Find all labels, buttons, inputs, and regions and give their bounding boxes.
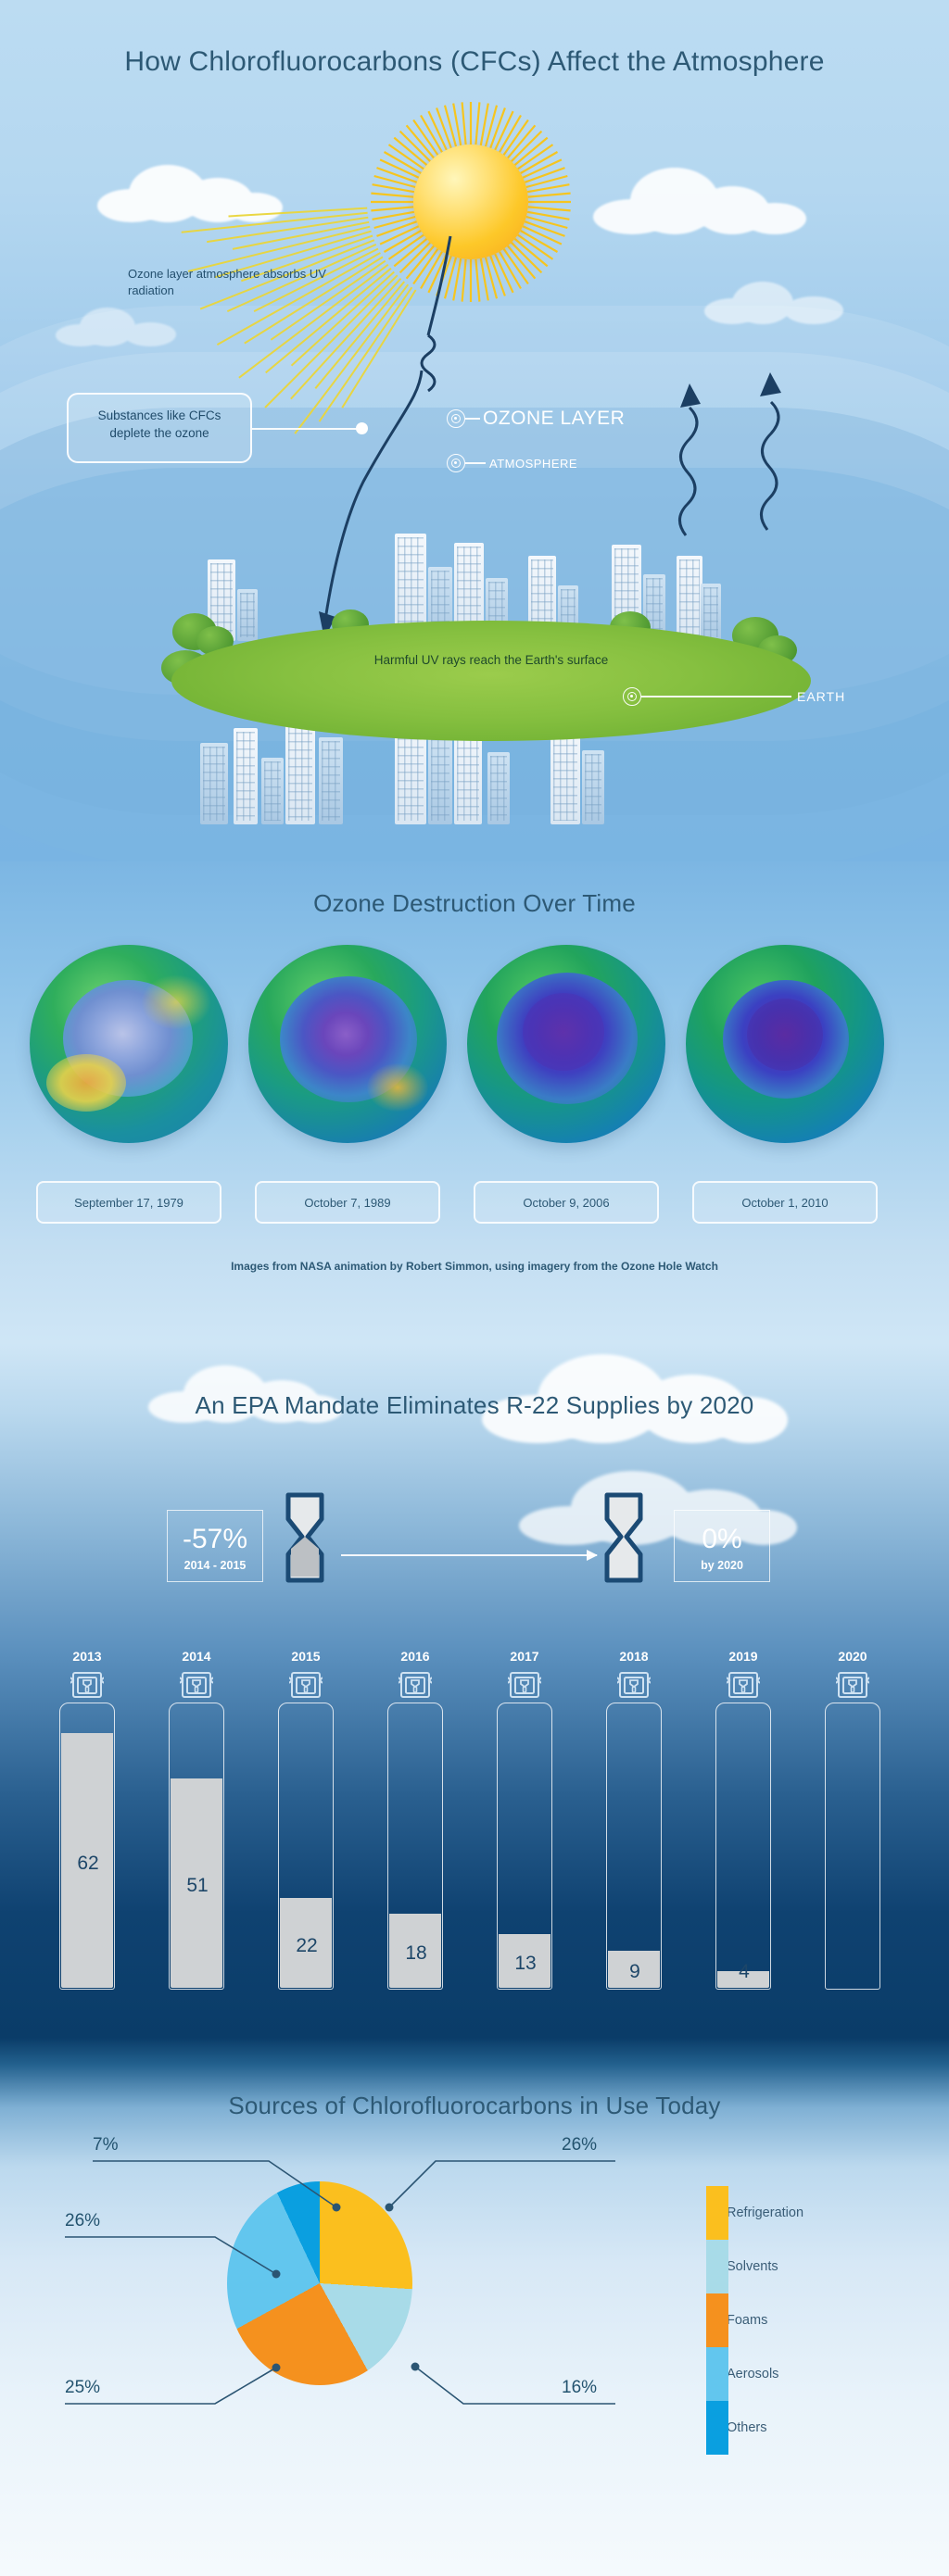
target-icon — [447, 409, 465, 428]
stat-target-period: by 2020 — [675, 1559, 769, 1572]
bar-year-label: 2013 — [48, 1649, 126, 1664]
ozone-globe-2006 — [467, 945, 665, 1143]
label-ozone-layer: OZONE LAYER — [447, 408, 625, 430]
epa-section-title: An EPA Mandate Eliminates R-22 Supplies … — [0, 1391, 949, 1420]
bar-year-label: 2018 — [595, 1649, 673, 1664]
legend-swatch — [706, 2186, 728, 2240]
bar-year-label: 2020 — [814, 1649, 892, 1664]
note-uv-reaches-surface: Harmful UV rays reach the Earth's surfac… — [297, 653, 686, 667]
bar-year-label: 2014 — [158, 1649, 235, 1664]
cloud-icon — [56, 306, 176, 346]
refrigerant-tank-icon — [399, 1669, 432, 1703]
date-chip: October 7, 1989 — [255, 1181, 440, 1224]
ozone-globe-1979 — [30, 945, 228, 1143]
note-ozone-absorbs: Ozone layer atmosphere absorbs UV radiat… — [128, 266, 341, 298]
refrigerant-tank-icon — [836, 1669, 869, 1703]
atmosphere-section: How Chlorofluorocarbons (CFCs) Affect th… — [0, 0, 949, 861]
bar-tube — [825, 1703, 880, 1990]
bar-value-label: 18 — [388, 1942, 444, 1965]
label-ozone-layer-text: OZONE LAYER — [480, 408, 625, 430]
pie-pct-others: 7% — [93, 2135, 118, 2155]
pie-pct-solvents: 16% — [562, 2378, 597, 2398]
bar-year-label: 2017 — [486, 1649, 563, 1664]
bar-year-label: 2016 — [376, 1649, 454, 1664]
sun-icon — [369, 100, 573, 304]
ozone-section-title: Ozone Destruction Over Time — [0, 889, 949, 918]
ozone-globe-2010 — [686, 945, 884, 1143]
bar-value-label: 13 — [498, 1953, 553, 1975]
infographic-page: How Chlorofluorocarbons (CFCs) Affect th… — [0, 0, 949, 2576]
legend-swatch — [706, 2240, 728, 2293]
target-icon — [623, 687, 641, 706]
bar-tube: 13 — [497, 1703, 552, 1990]
pie-legend: Refrigeration Solvents Foams Aerosols Ot… — [706, 2186, 803, 2455]
refrigerant-tank-icon — [508, 1669, 541, 1703]
page-title: How Chlorofluorocarbons (CFCs) Affect th… — [0, 46, 949, 78]
bar-value-label: 51 — [170, 1875, 225, 1897]
callout-leader-dot — [356, 422, 368, 434]
label-line — [465, 418, 480, 420]
label-line — [641, 696, 791, 697]
bar-tube: 62 — [59, 1703, 115, 1990]
bar-tube: 22 — [278, 1703, 334, 1990]
sun-core — [413, 145, 528, 259]
stat-decline-value: -57% — [168, 1526, 262, 1553]
cfc-sources-section: Sources of Chlorofluorocarbons in Use To… — [0, 2038, 949, 2576]
date-chip: September 17, 1979 — [36, 1181, 221, 1224]
earth-surface — [171, 621, 811, 741]
bar-tube: 4 — [715, 1703, 771, 1990]
hourglass-icon — [604, 1491, 643, 1584]
ozone-destruction-section: Ozone Destruction Over Time September 17… — [0, 861, 949, 1343]
refrigerant-tank-icon — [727, 1669, 760, 1703]
label-earth-text: EARTH — [791, 689, 845, 704]
label-atmosphere: ATMOSPHERE — [447, 454, 577, 472]
pie-slices — [227, 2181, 412, 2385]
epa-mandate-section: An EPA Mandate Eliminates R-22 Supplies … — [0, 1343, 949, 2038]
refrigerant-tank-icon — [70, 1669, 104, 1703]
callout-cfc-deplete: Substances like CFCs deplete the ozone — [67, 393, 252, 463]
pie-pct-foams: 25% — [65, 2378, 100, 2398]
progress-arrow — [341, 1554, 597, 1556]
cloud-icon — [704, 278, 843, 324]
bar-value-label: 22 — [279, 1935, 335, 1957]
callout-leader-line — [252, 428, 361, 430]
legend-swatch — [706, 2293, 728, 2347]
hourglass-icon — [285, 1491, 324, 1584]
bar-tube: 9 — [606, 1703, 662, 1990]
legend-swatch — [706, 2347, 728, 2401]
stat-target-value: 0% — [675, 1526, 769, 1553]
date-chip: October 1, 2010 — [692, 1181, 878, 1224]
legend-swatch-column — [706, 2186, 728, 2455]
date-chip: October 9, 2006 — [474, 1181, 659, 1224]
pie-section-title: Sources of Chlorofluorocarbons in Use To… — [0, 2092, 949, 2120]
target-icon — [447, 454, 465, 472]
label-earth: EARTH — [623, 687, 845, 706]
bar-value-label: 62 — [60, 1853, 116, 1875]
bar-value-label: 4 — [716, 1961, 772, 1983]
bar-year-label: 2015 — [267, 1649, 345, 1664]
pie-pct-aerosols: 26% — [65, 2211, 100, 2231]
refrigerant-tank-icon — [617, 1669, 651, 1703]
bar-tube: 18 — [387, 1703, 443, 1990]
bar-year-label: 2019 — [704, 1649, 782, 1664]
bar-tube: 51 — [169, 1703, 224, 1990]
bar-value-label: 9 — [607, 1961, 663, 1983]
ozone-globe-1989 — [248, 945, 447, 1143]
refrigerant-tank-icon — [180, 1669, 213, 1703]
pie-pct-refrigeration: 26% — [562, 2135, 597, 2155]
stat-decline-period: 2014 - 2015 — [168, 1559, 262, 1572]
nasa-credit-text: Images from NASA animation by Robert Sim… — [0, 1260, 949, 1273]
stat-box-target: 0% by 2020 — [674, 1510, 770, 1582]
label-line — [465, 462, 486, 464]
cloud-icon — [97, 157, 283, 222]
pie-chart — [227, 2181, 412, 2385]
label-atmosphere-text: ATMOSPHERE — [486, 457, 577, 471]
legend-swatch — [706, 2401, 728, 2455]
stat-box-decline: -57% 2014 - 2015 — [167, 1510, 263, 1582]
cloud-icon — [593, 162, 806, 234]
refrigerant-tank-icon — [289, 1669, 323, 1703]
